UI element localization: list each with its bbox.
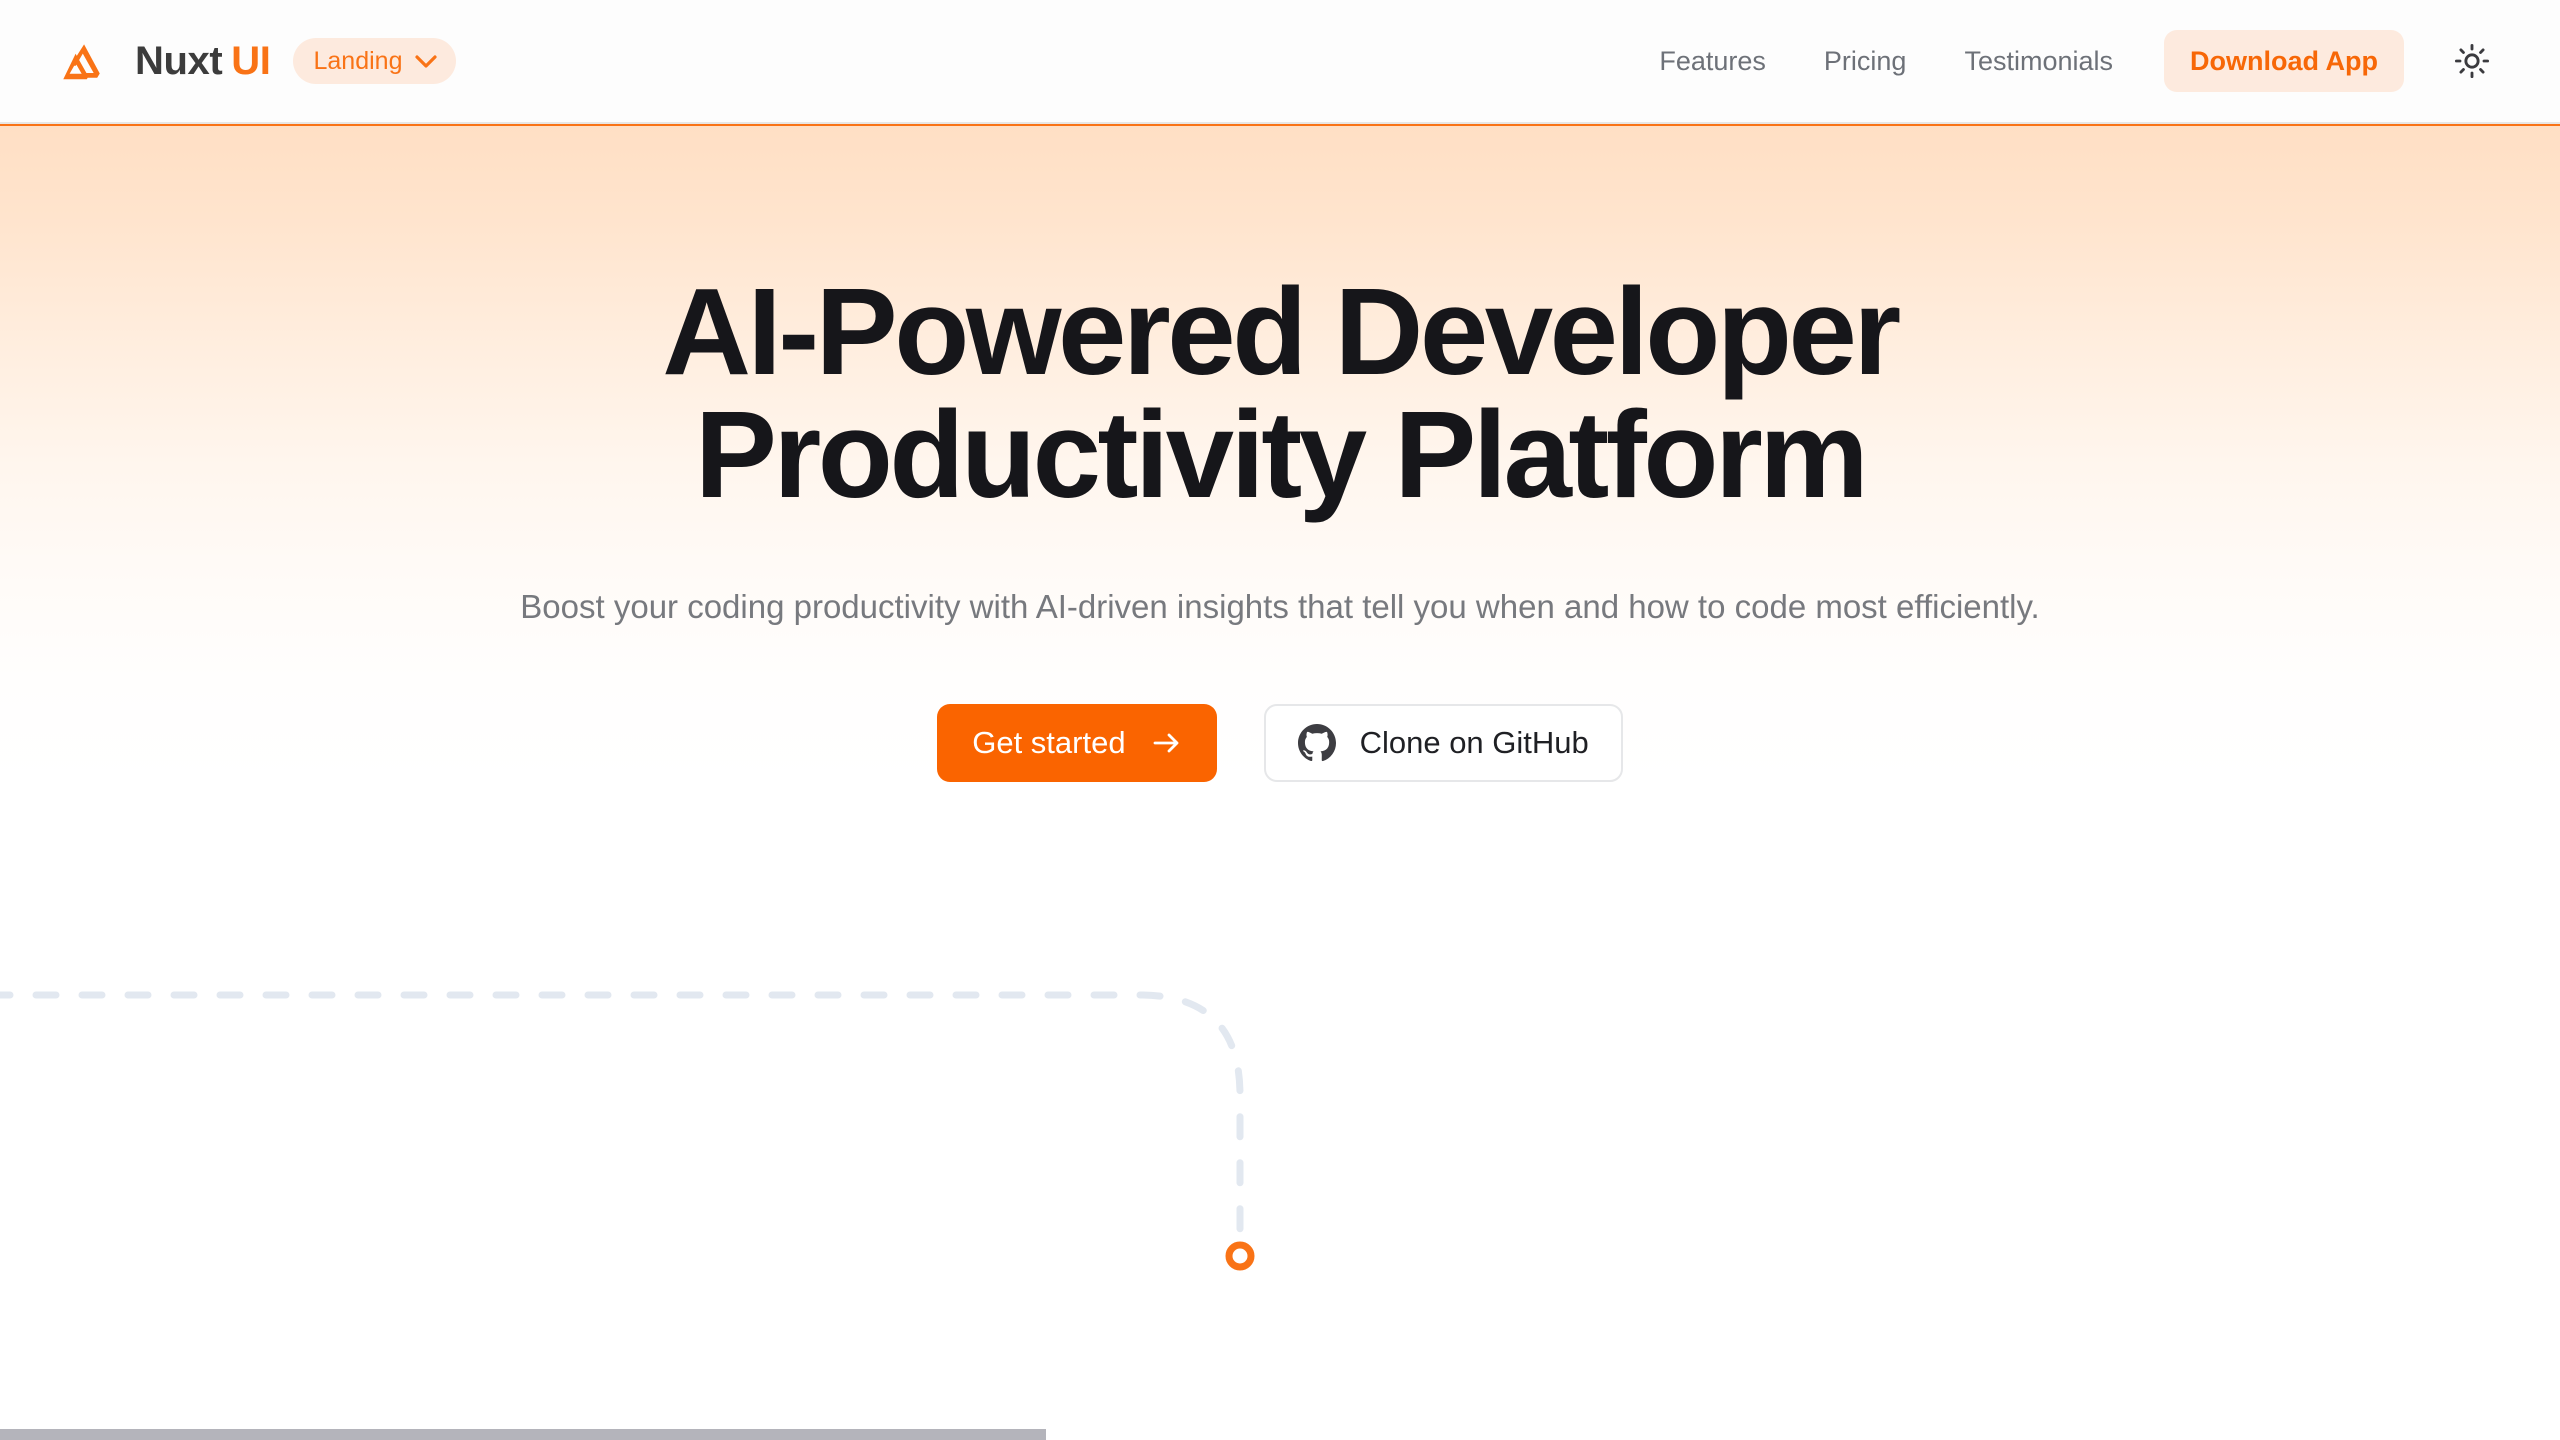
logo-link[interactable]: NuxtUI [62, 41, 271, 81]
hero-title-line-2: Productivity Platform [662, 394, 1898, 517]
landing-badge-label: Landing [314, 49, 403, 74]
theme-toggle-button[interactable] [2446, 35, 2498, 87]
nav-link-pricing[interactable]: Pricing [1795, 48, 1936, 75]
main-navigation: Features Pricing Testimonials Download A… [1630, 30, 2498, 92]
hero-section: AI-Powered Developer Productivity Platfo… [0, 124, 2560, 782]
path-end-node-icon [1229, 1245, 1251, 1267]
logo-word-ui: UI [231, 41, 270, 81]
hero-subtitle: Boost your coding productivity with AI-d… [520, 583, 2039, 631]
hero-title-line-1: AI-Powered Developer [662, 264, 1898, 401]
nav-link-features[interactable]: Features [1630, 48, 1795, 75]
brand-area: NuxtUI Landing [62, 0, 456, 122]
hero-title: AI-Powered Developer Productivity Platfo… [662, 271, 1898, 517]
download-app-button[interactable]: Download App [2164, 30, 2404, 92]
site-header: NuxtUI Landing Features Pricing Testimon… [0, 0, 2560, 124]
chevron-down-icon [415, 55, 437, 68]
landing-dropdown-badge[interactable]: Landing [293, 38, 457, 84]
arrow-right-icon [1152, 730, 1182, 756]
nuxt-mountain-logo-icon [62, 41, 118, 81]
dashed-connector-path [0, 995, 1240, 1232]
get-started-label: Get started [972, 727, 1125, 758]
github-icon [1298, 724, 1336, 762]
sun-icon [2454, 43, 2490, 79]
hero-cta-group: Get started Clone on GitHub [937, 704, 1623, 782]
header-inner: NuxtUI Landing Features Pricing Testimon… [0, 0, 2560, 122]
clone-github-label: Clone on GitHub [1360, 727, 1589, 758]
clone-on-github-button[interactable]: Clone on GitHub [1264, 704, 1623, 782]
horizontal-scrollbar[interactable] [0, 1426, 2560, 1440]
landing-page: NuxtUI Landing Features Pricing Testimon… [0, 0, 2560, 1440]
nav-link-testimonials[interactable]: Testimonials [1935, 48, 2142, 75]
horizontal-scrollbar-thumb[interactable] [0, 1429, 1046, 1440]
logo-wordmark: NuxtUI [135, 41, 271, 81]
get-started-button[interactable]: Get started [937, 704, 1216, 782]
logo-word-nuxt: Nuxt [135, 41, 222, 81]
